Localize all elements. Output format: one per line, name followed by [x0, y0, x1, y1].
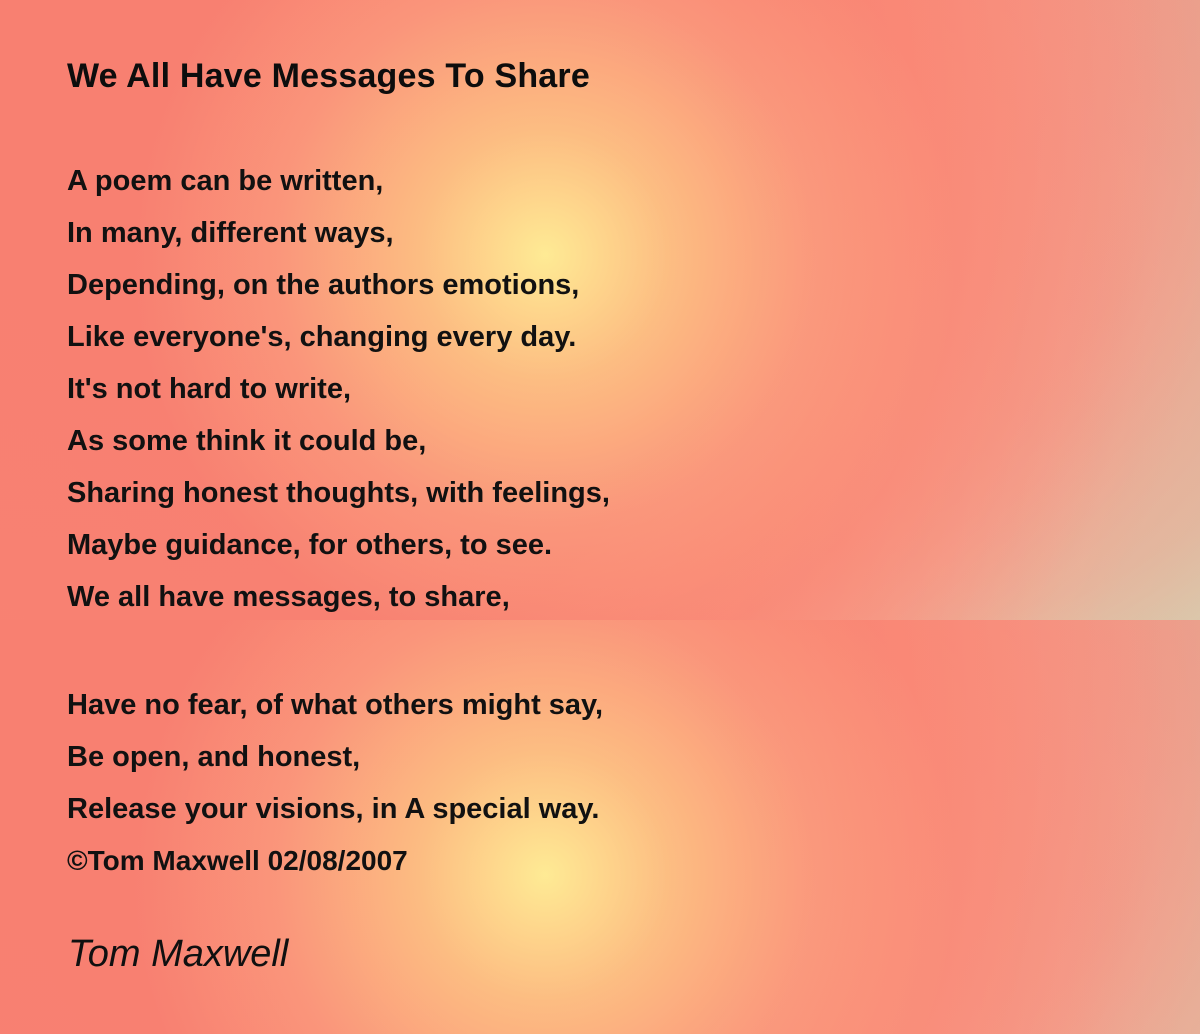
poem-line: As some think it could be,	[67, 415, 610, 467]
poem-line: In many, different ways,	[67, 207, 610, 259]
copyright-notice: ©Tom Maxwell 02/08/2007	[67, 835, 603, 887]
poem-line: Depending, on the authors emotions,	[67, 259, 610, 311]
poem-stanza-two: Have no fear, of what others might say, …	[67, 679, 603, 887]
poem-line: Like everyone's, changing every day.	[67, 311, 610, 363]
poem-stanza-one: A poem can be written, In many, differen…	[67, 155, 610, 623]
poem-line: Be open, and honest,	[67, 731, 603, 783]
poem-line: Maybe guidance, for others, to see.	[67, 519, 610, 571]
poem-image-card: We All Have Messages To Share A poem can…	[0, 0, 1200, 1034]
poem-line: Have no fear, of what others might say,	[67, 679, 603, 731]
poem-line: It's not hard to write,	[67, 363, 610, 415]
poem-content-layer: We All Have Messages To Share A poem can…	[0, 0, 1200, 1034]
page-title: We All Have Messages To Share	[67, 57, 590, 96]
poem-line: A poem can be written,	[67, 155, 610, 207]
poem-line: Sharing honest thoughts, with feelings,	[67, 467, 610, 519]
poem-line: We all have messages, to share,	[67, 571, 610, 623]
poem-line: Release your visions, in A special way.	[67, 783, 603, 835]
author-signature: Tom Maxwell	[68, 933, 288, 976]
